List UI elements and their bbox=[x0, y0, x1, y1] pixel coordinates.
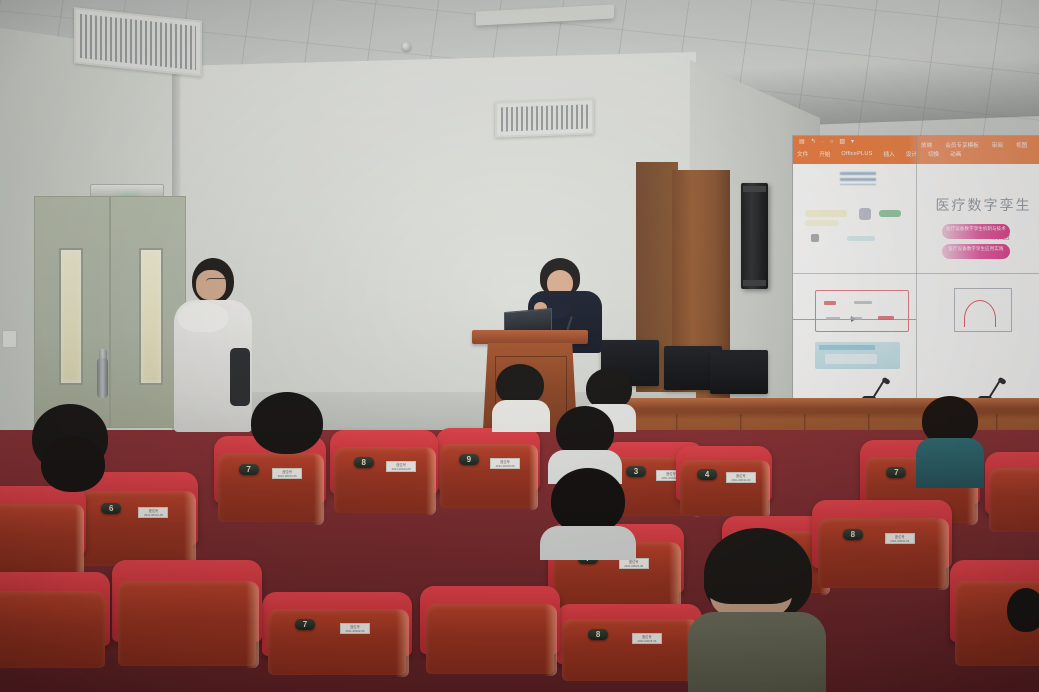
seat-label: 座位号 2021-00025-06 bbox=[632, 633, 662, 644]
seat-wood-panel bbox=[562, 619, 696, 680]
double-door[interactable] bbox=[34, 196, 186, 428]
slide-diagram-bottomright: 医疗设备数字孪生机制与技术 医疗设备数字孪生应用实践 bbox=[916, 274, 1039, 398]
slide-thumbnail-topleft bbox=[793, 164, 916, 273]
seat-number-plate: 9 bbox=[459, 454, 479, 465]
seat-wood-edge bbox=[314, 453, 324, 524]
door-lock-icon[interactable] bbox=[97, 358, 108, 398]
seat-wood-panel bbox=[680, 460, 768, 516]
seat-label: 座位号 2021-00013-05 bbox=[272, 468, 302, 479]
diagram-item bbox=[826, 317, 840, 320]
seat[interactable] bbox=[985, 452, 1039, 552]
panel-seam bbox=[916, 136, 917, 398]
seat-label: 座位号 2021-00014-05 bbox=[386, 461, 416, 472]
attendee-hair-top bbox=[704, 542, 798, 604]
seat-wood-panel bbox=[0, 591, 105, 668]
diagram-item bbox=[854, 301, 872, 304]
slide-chip bbox=[859, 208, 871, 220]
seat[interactable]: 7 座位号 2021-00022-06 bbox=[262, 592, 412, 692]
seat-label: 座位号 2021-00012-05 bbox=[138, 507, 168, 518]
save-icon[interactable]: ▤ bbox=[799, 138, 805, 145]
diagram-item bbox=[878, 316, 894, 320]
slide-diagram-bottomleft bbox=[793, 274, 916, 398]
attendee-shirt bbox=[492, 400, 550, 432]
undo-icon[interactable]: ↰ bbox=[811, 138, 816, 145]
attendee-hair bbox=[41, 436, 105, 492]
seat-wood-panel bbox=[218, 453, 321, 522]
seat-wood-panel bbox=[118, 581, 256, 665]
sprinkler-icon bbox=[402, 42, 411, 51]
slide-pill-label: 医疗设备数字孪生应用实践 bbox=[942, 244, 1010, 259]
attendee-hair bbox=[251, 392, 323, 454]
ribbon-tab-member-templates[interactable]: 会员专享模板 bbox=[945, 141, 979, 149]
slide-chip bbox=[805, 220, 839, 226]
seated-attendee bbox=[540, 468, 636, 556]
seat-number-plate: 7 bbox=[295, 619, 315, 630]
seat-wood-panel bbox=[818, 518, 947, 588]
speaker-icon bbox=[741, 183, 768, 289]
seat-wood-panel bbox=[268, 609, 406, 676]
seat-wood-panel bbox=[426, 604, 555, 674]
seated-attendee bbox=[486, 364, 554, 426]
seat-wood-panel bbox=[989, 468, 1039, 532]
vent-grille bbox=[80, 14, 196, 70]
attendee-tshirt bbox=[688, 612, 826, 692]
card-inner-field bbox=[825, 354, 877, 364]
seat[interactable]: 9 座位号 2021-00015-05 bbox=[436, 428, 540, 528]
slide-chip bbox=[879, 210, 901, 217]
foreground-attendee bbox=[692, 528, 824, 692]
print-icon[interactable]: ▧ bbox=[839, 138, 845, 145]
ribbon-tab-animation[interactable]: 动画 bbox=[950, 150, 961, 158]
seated-attendee bbox=[244, 392, 330, 462]
ribbon-tab-list-right[interactable]: 放映 会员专享模板 审阅 视图 bbox=[921, 141, 1027, 149]
seat[interactable] bbox=[420, 586, 560, 692]
slide-pill-label: 医疗设备数字孪生机制与技术 bbox=[942, 224, 1010, 239]
glasses-icon bbox=[206, 278, 228, 286]
door-glass-panel bbox=[139, 248, 163, 385]
lecture-hall-photo: ▤ ↰ · ○ ▧ ▾ 文件 开始 OfficePLUS 插入 设计 切换 动画… bbox=[0, 0, 1039, 692]
diagram-red-box bbox=[815, 290, 909, 332]
seat-number-plate: 7 bbox=[239, 464, 259, 475]
seat-wood-edge bbox=[246, 581, 260, 668]
vent-grille bbox=[501, 104, 588, 131]
slide-chip bbox=[811, 234, 819, 242]
more-icon[interactable]: ▾ bbox=[851, 138, 854, 145]
seated-attendee bbox=[1006, 588, 1039, 692]
play-icon[interactable]: ○ bbox=[830, 139, 834, 145]
attendee-hair bbox=[551, 468, 625, 534]
redo-icon[interactable]: · bbox=[822, 139, 824, 145]
ribbon-tab-view[interactable]: 视图 bbox=[1016, 141, 1027, 149]
seat[interactable]: 8 座位号 2021-00032-04 bbox=[812, 500, 952, 610]
seat-label: 座位号 2021-00015-05 bbox=[490, 458, 520, 469]
seat[interactable] bbox=[0, 572, 110, 692]
podium-top bbox=[472, 330, 588, 344]
seat-wood-edge bbox=[937, 518, 950, 591]
attendee-hood bbox=[178, 302, 228, 332]
seat-wood-edge bbox=[396, 609, 410, 678]
seat-label: 座位号 2021-00042-03 bbox=[726, 472, 756, 483]
seat-wood-edge bbox=[75, 504, 84, 577]
diagram-item bbox=[824, 301, 836, 305]
ribbon-tab-file[interactable]: 文件 bbox=[797, 150, 808, 158]
seat[interactable]: 8 座位号 2021-00014-05 bbox=[330, 430, 438, 534]
attendee-hair bbox=[1007, 588, 1039, 632]
seat-wood-edge bbox=[184, 491, 195, 569]
diagram-item bbox=[850, 317, 862, 320]
slide-title: 医疗数字孪生 bbox=[936, 195, 1032, 215]
attendee-shirt bbox=[540, 526, 636, 560]
standing-attendee bbox=[172, 252, 254, 432]
slide-chip bbox=[805, 210, 847, 217]
seat-wood-edge bbox=[545, 604, 558, 677]
stage-chair bbox=[710, 350, 768, 394]
seated-attendee bbox=[34, 436, 112, 506]
attendee-top bbox=[916, 438, 984, 488]
seat-number-plate: 4 bbox=[697, 469, 717, 480]
ribbon-tab-list[interactable]: 文件 开始 OfficePLUS 插入 设计 切换 动画 bbox=[797, 150, 1039, 158]
quick-access-toolbar[interactable]: ▤ ↰ · ○ ▧ ▾ bbox=[799, 138, 854, 145]
diagram-cyan-card bbox=[815, 342, 900, 369]
air-vent-icon bbox=[495, 98, 594, 137]
ribbon-tab-insert[interactable]: 插入 bbox=[884, 150, 895, 158]
slide-header-blur bbox=[840, 172, 876, 185]
ribbon-tab-home[interactable]: 开始 bbox=[819, 150, 830, 158]
led-display-wall: ▤ ↰ · ○ ▧ ▾ 文件 开始 OfficePLUS 插入 设计 切换 动画… bbox=[793, 136, 1039, 398]
door-glass-panel bbox=[59, 248, 83, 385]
seat-wood-panel bbox=[440, 444, 536, 508]
seat[interactable]: 8 座位号 2021-00025-06 bbox=[556, 604, 702, 692]
seat[interactable] bbox=[112, 560, 262, 692]
ribbon-tab-review[interactable]: 审阅 bbox=[992, 141, 1003, 149]
seat-wood-edge bbox=[761, 460, 770, 518]
card-caption-bar bbox=[819, 345, 875, 350]
light-switch[interactable] bbox=[2, 330, 17, 348]
seat-wood-panel bbox=[334, 447, 433, 514]
seat-number-plate: 8 bbox=[588, 629, 608, 640]
door-leaf-left[interactable] bbox=[34, 196, 110, 428]
slide-chip bbox=[847, 236, 875, 241]
seat-label: 座位号 2021-00032-04 bbox=[885, 533, 915, 544]
ribbon-tab-slideshow[interactable]: 放映 bbox=[921, 141, 932, 149]
seat-wood-panel bbox=[0, 504, 82, 574]
seated-attendee bbox=[912, 396, 988, 488]
panel-seam bbox=[793, 273, 1039, 274]
seat-number-plate: 8 bbox=[843, 529, 863, 540]
seat-wood-edge bbox=[426, 447, 436, 516]
ribbon-tab-officeplus[interactable]: OfficePLUS bbox=[841, 151, 872, 157]
seat-label: 座位号 2021-00022-06 bbox=[340, 623, 370, 634]
seat-number-plate: 8 bbox=[354, 457, 374, 468]
seat-number-plate: 7 bbox=[886, 467, 906, 478]
ribbon-tab-transition[interactable]: 切换 bbox=[928, 150, 939, 158]
seat-wood-edge bbox=[529, 444, 538, 510]
